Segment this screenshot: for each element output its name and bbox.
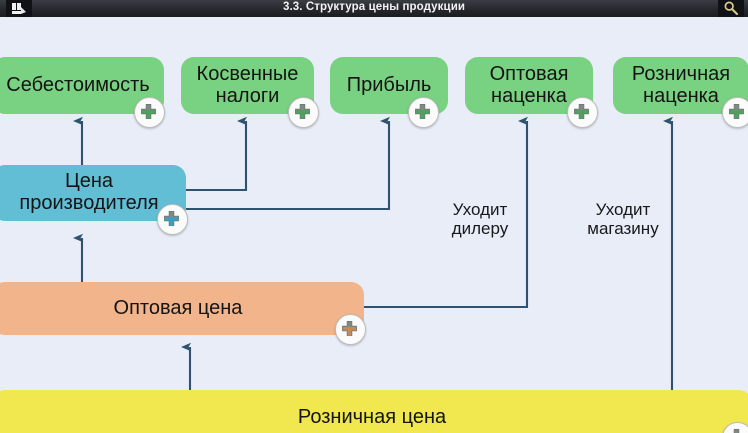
node-producer-price-label: Цена производителя xyxy=(19,171,158,214)
node-retail-price[interactable]: Розничная цена xyxy=(0,390,748,433)
plus-icon-indirect-taxes[interactable] xyxy=(288,97,319,128)
search-icon[interactable] xyxy=(718,0,744,18)
node-wholesale-price-label: Оптовая цена xyxy=(114,298,243,320)
plus-icon-retail-markup[interactable] xyxy=(722,97,748,128)
node-wholesale-price[interactable]: Оптовая цена xyxy=(0,282,364,335)
diagram-canvas: Себестоимость Косвенные налоги Прибыль xyxy=(0,17,748,433)
node-profit-label: Прибыль xyxy=(347,75,432,97)
node-cost-label: Себестоимость xyxy=(6,75,149,97)
annotation-goes-to-store-label: Уходит магазину xyxy=(587,200,658,239)
annotation-goes-to-store: Уходит магазину xyxy=(578,180,668,239)
title-bar: 3.3. Структура цены продукции xyxy=(0,0,748,18)
node-wholesale-markup-label: Оптовая наценка xyxy=(490,64,569,107)
plus-icon-cost[interactable] xyxy=(134,97,165,128)
node-indirect-taxes-label: Косвенные налоги xyxy=(197,64,299,107)
node-retail-markup-label: Розничная наценка xyxy=(632,64,730,107)
presentation-slide: 3.3. Структура цены продукции xyxy=(0,0,748,433)
annotation-goes-to-dealer-label: Уходит дилеру xyxy=(452,200,509,239)
plus-icon-wholesale-markup[interactable] xyxy=(567,97,598,128)
plus-icon-profit[interactable] xyxy=(408,97,439,128)
node-retail-price-label: Розничная цена xyxy=(298,407,446,429)
plus-icon-wholesale-price[interactable] xyxy=(335,314,366,345)
slide-title: 3.3. Структура цены продукции xyxy=(0,0,748,16)
connector-producer-to-taxes xyxy=(186,121,246,190)
plus-icon-retail-price[interactable] xyxy=(722,422,748,433)
connector-producer-to-profit xyxy=(186,121,389,209)
plus-icon-producer-price[interactable] xyxy=(157,204,188,235)
annotation-goes-to-dealer: Уходит дилеру xyxy=(441,180,519,239)
